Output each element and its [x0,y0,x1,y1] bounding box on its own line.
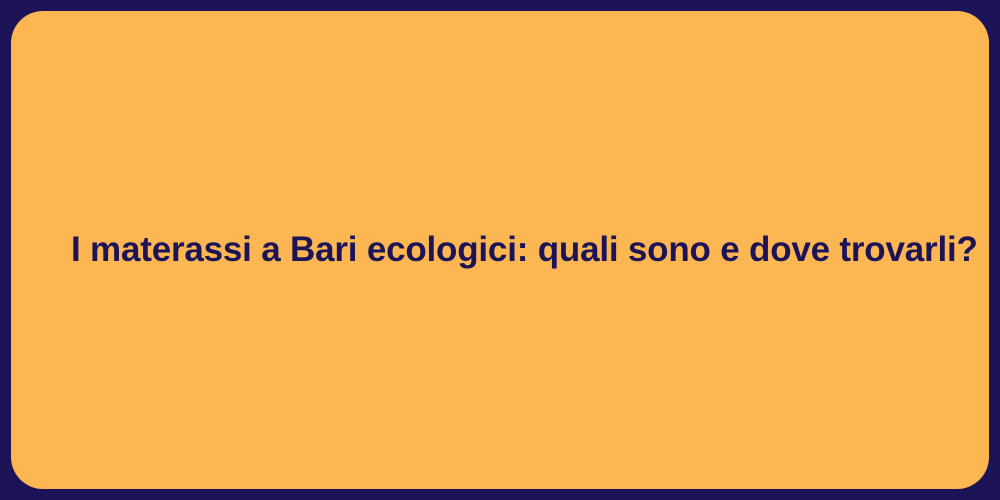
banner-root: I materassi a Bari ecologici: quali sono… [0,0,1000,500]
page-title: I materassi a Bari ecologici: quali sono… [71,228,929,273]
banner-card: I materassi a Bari ecologici: quali sono… [11,11,989,489]
headline-container: I materassi a Bari ecologici: quali sono… [11,228,989,273]
